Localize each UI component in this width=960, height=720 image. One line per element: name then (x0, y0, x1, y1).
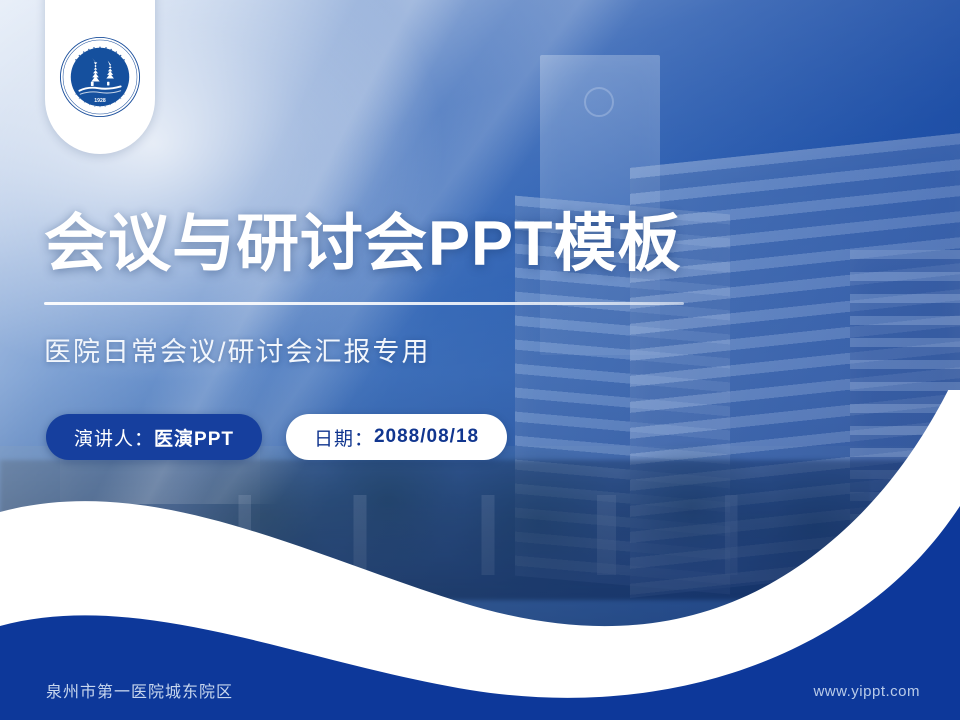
title-divider (44, 302, 684, 305)
wave-decoration (0, 390, 960, 720)
logo-badge: 1928 (45, 0, 155, 154)
headline-block: 会议与研讨会PPT模板 医院日常会议/研讨会汇报专用 (44, 212, 744, 369)
hospital-seal-icon: 1928 (57, 34, 143, 120)
page-subtitle: 医院日常会议/研讨会汇报专用 (44, 330, 744, 369)
footer-organization: 泉州市第一医院城东院区 (46, 678, 233, 702)
presentation-cover-slide: 1928 会议与研讨会PPT模板 医院日常会议/研讨会汇报专用 演讲人：医演PP… (0, 0, 960, 720)
seal-year: 1928 (94, 98, 106, 104)
footer-website[interactable]: www.yippt.com (813, 683, 920, 700)
page-title: 会议与研讨会PPT模板 (44, 212, 744, 278)
